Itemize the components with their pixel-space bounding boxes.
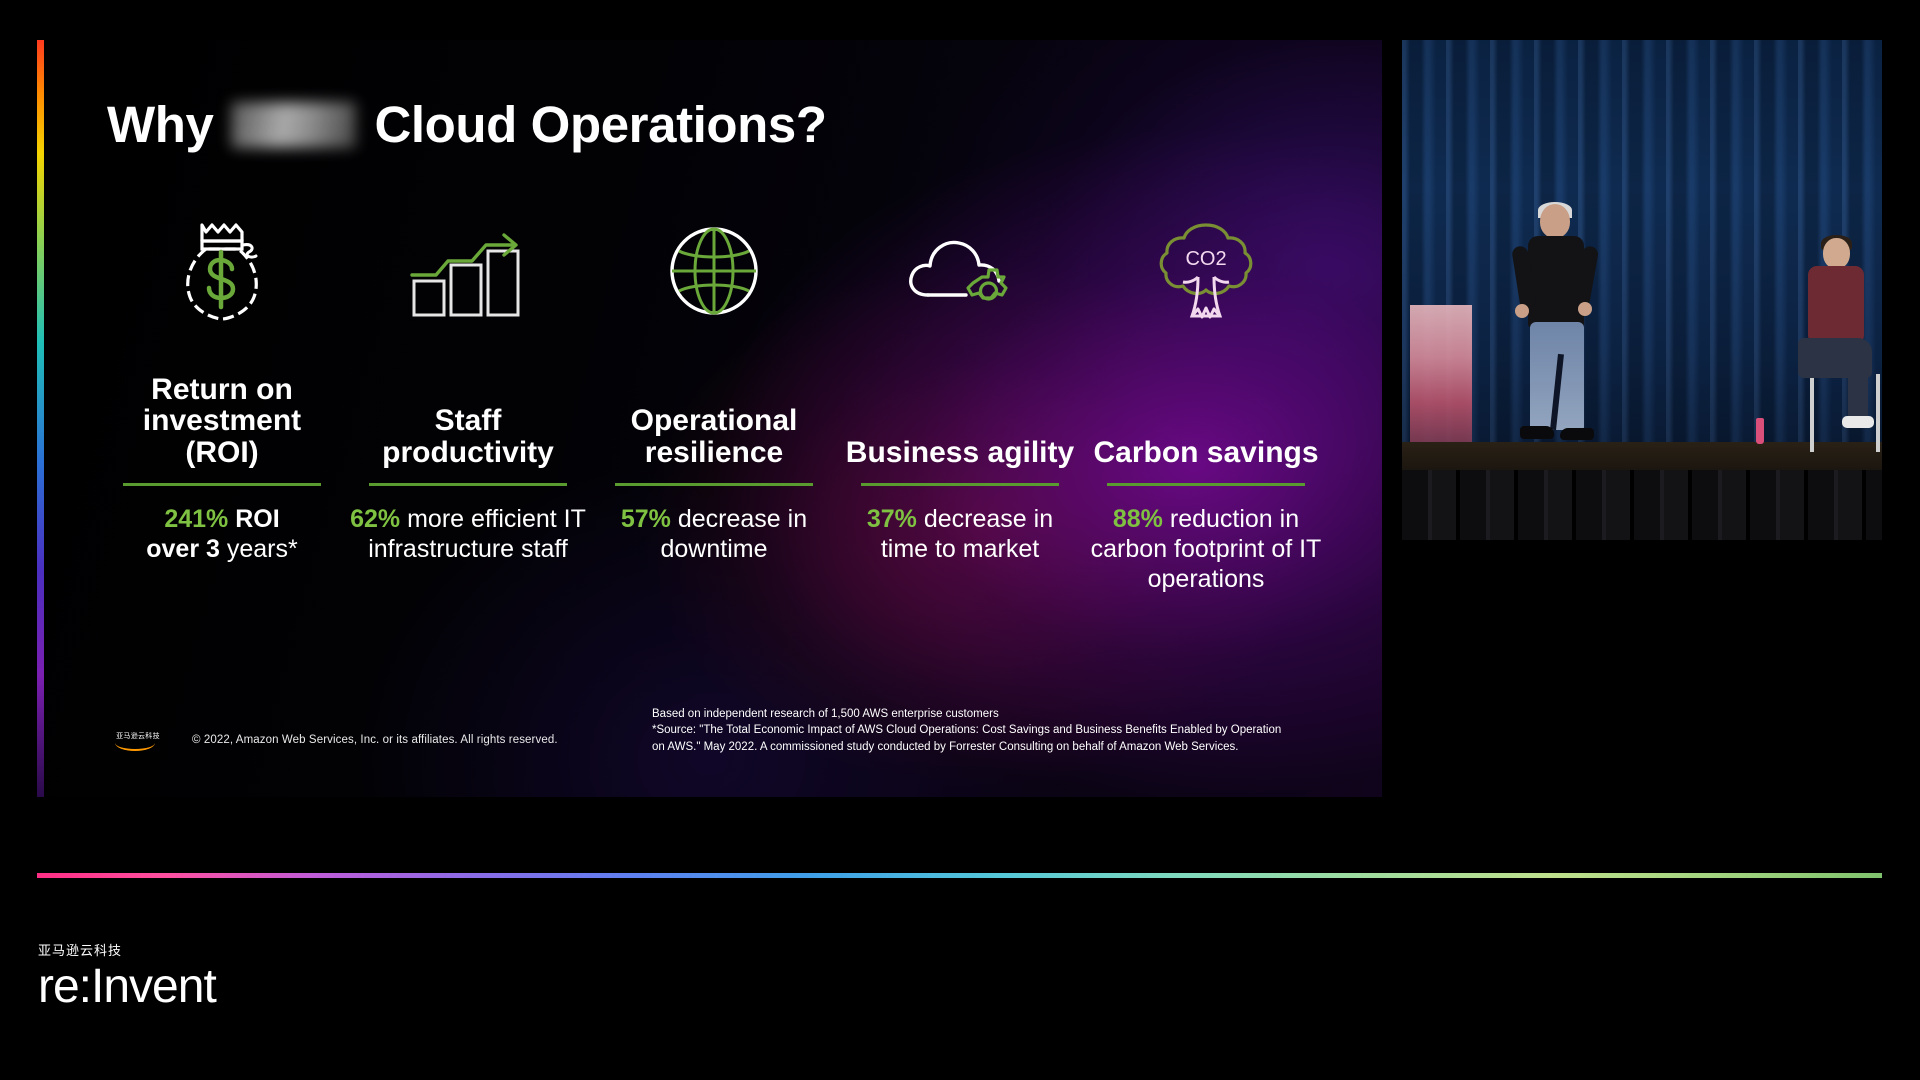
audience-seating [1402, 470, 1882, 540]
benefit-stat: 62% more efficient IT infrastructure sta… [345, 505, 591, 565]
benefit-title: Business agility [840, 343, 1080, 469]
cloud-gear-icon [837, 215, 1083, 327]
footnote-line-2: *Source: "The Total Economic Impact of A… [652, 722, 1281, 738]
benefit-stat: 57% decrease in downtime [591, 505, 837, 565]
footnote-line-1: Based on independent research of 1,500 A… [652, 706, 1281, 722]
benefit-divider [1107, 483, 1305, 486]
title-text-after: Cloud Operations? [374, 95, 826, 154]
tree-co2-icon: CO2 [1083, 215, 1329, 327]
footnote-line-3: on AWS." May 2022. A commissioned study … [652, 739, 1281, 755]
co2-label: CO2 [1185, 248, 1226, 270]
stat-line2-regular: more efficient IT infrastructure staff [368, 505, 586, 563]
title-text-before: Why [107, 95, 213, 154]
slide-footer: 亚马逊云科技 © 2022, Amazon Web Services, Inc.… [37, 713, 1382, 773]
aws-logo-blurred-icon [231, 102, 356, 148]
stat-line2-regular: decrease in downtime [661, 505, 808, 563]
reinvent-wordmark: re:Invent [38, 963, 216, 1011]
benefit-stat: 88% reduction in carbon footprint of IT … [1083, 505, 1329, 594]
footnote-block: Based on independent research of 1,500 A… [652, 706, 1281, 755]
stat-percent: 57% [621, 505, 671, 533]
speaker-standing [1514, 204, 1598, 454]
stat-line2-regular: years* [220, 535, 298, 563]
water-bottle [1756, 418, 1764, 444]
slide-title: Why Cloud Operations? [107, 95, 827, 154]
benefit-title: Return on investment (ROI) [99, 343, 345, 469]
reinvent-logo: 亚马逊云科技 re:Invent [38, 940, 216, 1011]
benefit-divider [369, 483, 567, 486]
bar-chart-growth-icon [345, 215, 591, 327]
presentation-slide: Why Cloud Operations? Return on inv [37, 40, 1382, 797]
stat-rest-bold: ROI [228, 505, 279, 533]
benefit-column-business-agility: Business agility 37% decrease in time to… [837, 215, 1083, 594]
screen-root: Why Cloud Operations? Return on inv [0, 0, 1920, 1080]
benefit-divider [123, 483, 321, 486]
stage-side-panel [1410, 305, 1472, 445]
reinvent-invent: Invent [91, 960, 216, 1013]
benefit-title: Operational resilience [591, 343, 837, 469]
stat-percent: 62% [350, 505, 400, 533]
aws-china-logo-icon: 亚马逊云科技 [115, 733, 161, 751]
globe-icon [591, 215, 837, 327]
benefit-column-carbon-savings: CO2 Carbon savings 88% reduction in carb… [1083, 215, 1329, 594]
copyright-text: © 2022, Amazon Web Services, Inc. or its… [192, 734, 558, 746]
stat-percent: 241% [164, 505, 228, 533]
benefit-title: Carbon savings [1087, 343, 1324, 469]
benefit-column-staff-productivity: Staff productivity 62% more efficient IT… [345, 215, 591, 594]
brand-rainbow-divider [37, 873, 1882, 878]
benefit-column-operational-resilience: Operational resilience 57% decrease in d… [591, 215, 837, 594]
aws-china-logo-text: 亚马逊云科技 [115, 733, 161, 740]
slide-accent-bar [37, 40, 44, 797]
aws-smile-icon [115, 743, 155, 751]
benefit-stat: 241% ROI over 3 years* [142, 505, 301, 565]
speaker-seated [1788, 238, 1876, 428]
benefit-divider [615, 483, 813, 486]
stat-percent: 88% [1113, 505, 1163, 533]
stat-percent: 37% [867, 505, 917, 533]
benefit-divider [861, 483, 1059, 486]
reinvent-re: re: [38, 960, 91, 1013]
speaker-video-panel [1402, 40, 1882, 540]
benefit-columns: Return on investment (ROI) 241% ROI over… [99, 215, 1329, 594]
stat-line2-bold: over 3 [146, 535, 220, 563]
benefit-title: Staff productivity [345, 343, 591, 469]
reinvent-cn-text: 亚马逊云科技 [38, 940, 216, 959]
money-bag-icon [99, 215, 345, 327]
benefit-stat: 37% decrease in time to market [837, 505, 1083, 565]
benefit-column-roi: Return on investment (ROI) 241% ROI over… [99, 215, 345, 594]
